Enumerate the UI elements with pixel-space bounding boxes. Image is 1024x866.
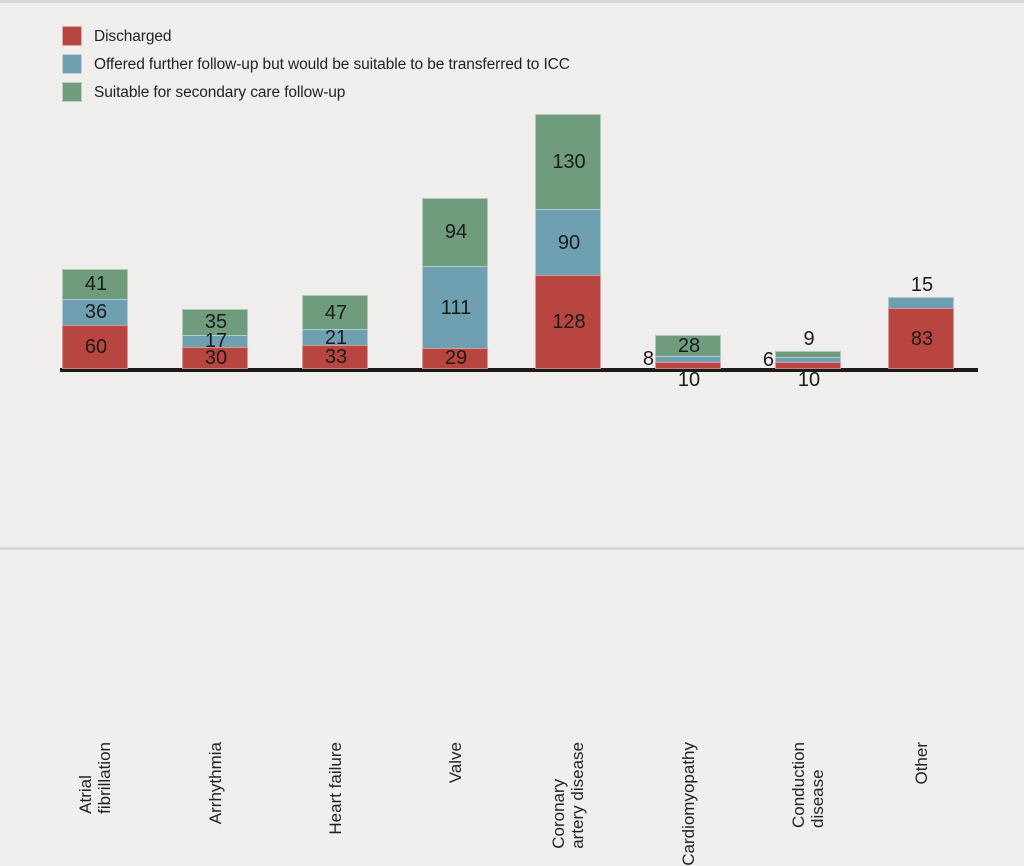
bar-segment[interactable]: 83 [888, 308, 954, 369]
x-axis-category-label-text: Atrial fibrillation [76, 742, 114, 814]
bar-segment[interactable]: 10 [775, 362, 841, 369]
x-axis-category-label: Conduction disease [775, 742, 841, 828]
x-axis-category-label: Coronary artery disease [535, 742, 601, 849]
x-axis-category-label-text: Conduction disease [789, 742, 827, 828]
x-axis-category-label: Other [888, 742, 954, 785]
bar-segment-value: 41 [63, 274, 129, 294]
bar-segment-value: 36 [63, 302, 129, 322]
bar-segment[interactable]: 10 [655, 362, 721, 369]
bar-segment-value: 130 [536, 152, 602, 172]
bar-segment[interactable]: 47 [302, 295, 368, 329]
bar-segment-value: 10 [656, 370, 722, 390]
x-axis-category-label: Valve [422, 742, 488, 783]
bar-segment-value: 128 [536, 312, 602, 332]
x-axis-category-label: Atrial fibrillation [62, 742, 128, 814]
bar-segment-value: 30 [183, 348, 249, 368]
bar-segment-value: 94 [423, 222, 489, 242]
bar-stack[interactable]: 28810 [655, 335, 721, 369]
bar-segment-value: 111 [423, 298, 489, 318]
bar-segment[interactable]: 28 [655, 335, 721, 356]
bar-segment-value: 28 [656, 336, 722, 356]
bar-segment[interactable]: 60 [62, 325, 128, 369]
bar-segment-value: 83 [889, 329, 955, 349]
bar-stack[interactable]: 9610 [775, 351, 841, 369]
bar-segment[interactable]: 41 [62, 269, 128, 299]
bar-segment-value: 90 [536, 233, 602, 253]
bar-segment[interactable]: 30 [182, 347, 248, 369]
bar-segment-value: 35 [183, 312, 249, 332]
bar-segment-value: 47 [303, 303, 369, 323]
bar-segment[interactable]: 111 [422, 266, 488, 347]
x-axis-category-label: Arrhythmia [182, 742, 248, 824]
bar-segment[interactable]: 17 [182, 335, 248, 347]
bar-segment[interactable]: 130 [535, 114, 601, 209]
x-axis-category-label-text: Arrhythmia [206, 742, 225, 824]
bar-segment[interactable]: 90 [535, 209, 601, 275]
bar-segment[interactable]: 128 [535, 275, 601, 369]
bar-stack[interactable]: 413660 [62, 269, 128, 369]
bar-stack[interactable]: 351730 [182, 309, 248, 369]
bar-segment-value: 9 [776, 329, 842, 349]
bar-segment-value: 33 [303, 347, 369, 367]
bar-segment[interactable]: 21 [302, 329, 368, 344]
x-axis-category-label-text: Coronary artery disease [549, 742, 587, 849]
x-axis-category-label-text: Valve [446, 742, 465, 783]
bar-segment-value: 15 [889, 275, 955, 295]
bar-segment-value: 10 [776, 370, 842, 390]
bar-segment[interactable]: 29 [422, 348, 488, 369]
bar-segment-value: 60 [63, 337, 129, 357]
bar-stack[interactable]: 1583 [888, 297, 954, 369]
bar-stack[interactable]: 472133 [302, 295, 368, 369]
x-axis-category-label-text: Heart failure [326, 742, 345, 835]
x-axis-category-label: Heart failure [302, 742, 368, 835]
bar-stack[interactable]: 13090128 [535, 114, 601, 369]
bar-segment-value: 29 [423, 348, 489, 368]
x-axis-category-label-text: Other [912, 742, 931, 785]
bar-segment-value: 6 [734, 350, 774, 370]
bar-segment[interactable]: 15 [888, 297, 954, 308]
bar-stack[interactable]: 9411129 [422, 198, 488, 370]
bar-segment[interactable]: 33 [302, 345, 368, 369]
bar-segment-value: 8 [614, 349, 654, 369]
x-axis-category-label-text: Cardiomyopathy [679, 742, 698, 866]
x-axis-category-label: Cardiomyopathy [655, 742, 721, 866]
bar-segment[interactable]: 94 [422, 198, 488, 267]
stacked-bar-plot: 413660Atrial fibrillation351730Arrhythmi… [0, 0, 1024, 550]
bar-segment[interactable]: 9 [775, 351, 841, 358]
bar-segment[interactable]: 36 [62, 299, 128, 325]
